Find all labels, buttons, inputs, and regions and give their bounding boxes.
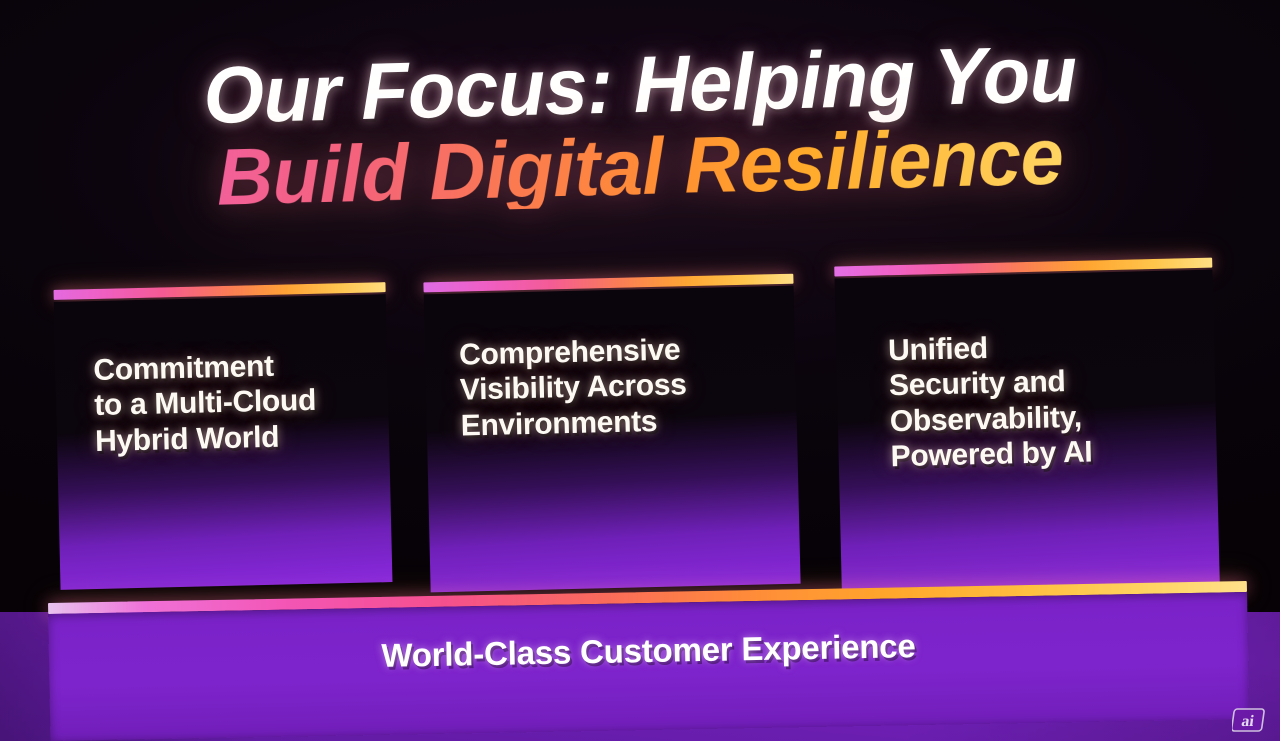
- presentation-slide: Our Focus: Helping You Build Digital Res…: [0, 0, 1280, 741]
- feature-card-group: Commitment to a Multi-Cloud Hybrid World…: [0, 0, 1280, 612]
- feature-card-comprehensive-visibility: Comprehensive Visibility Across Environm…: [423, 274, 800, 593]
- feature-card-unified-security-observability: Unified Security and Observability, Powe…: [834, 258, 1220, 593]
- ai-watermark-logo: ai: [1232, 705, 1272, 735]
- card-heading-line: Environments: [460, 403, 687, 444]
- card-heading-line: to a Multi-Cloud: [94, 383, 317, 424]
- card-heading: Unified Security and Observability, Powe…: [888, 329, 1093, 475]
- card-heading-line: Powered by AI: [890, 435, 1092, 475]
- card-heading: Commitment to a Multi-Cloud Hybrid World: [93, 348, 317, 459]
- card-heading-line: Comprehensive: [459, 332, 686, 373]
- card-heading-line: Visibility Across: [460, 368, 687, 409]
- bottom-banner: World-Class Customer Experience: [48, 581, 1249, 741]
- card-heading-line: Commitment: [93, 348, 316, 389]
- card-heading-line: Hybrid World: [95, 419, 318, 460]
- card-heading-line: Unified: [888, 329, 1090, 369]
- card-heading: Comprehensive Visibility Across Environm…: [459, 332, 688, 443]
- card-heading-line: Observability,: [889, 399, 1091, 439]
- card-heading-line: Security and: [889, 364, 1091, 404]
- feature-card-commitment-multicloud: Commitment to a Multi-Cloud Hybrid World: [54, 282, 393, 590]
